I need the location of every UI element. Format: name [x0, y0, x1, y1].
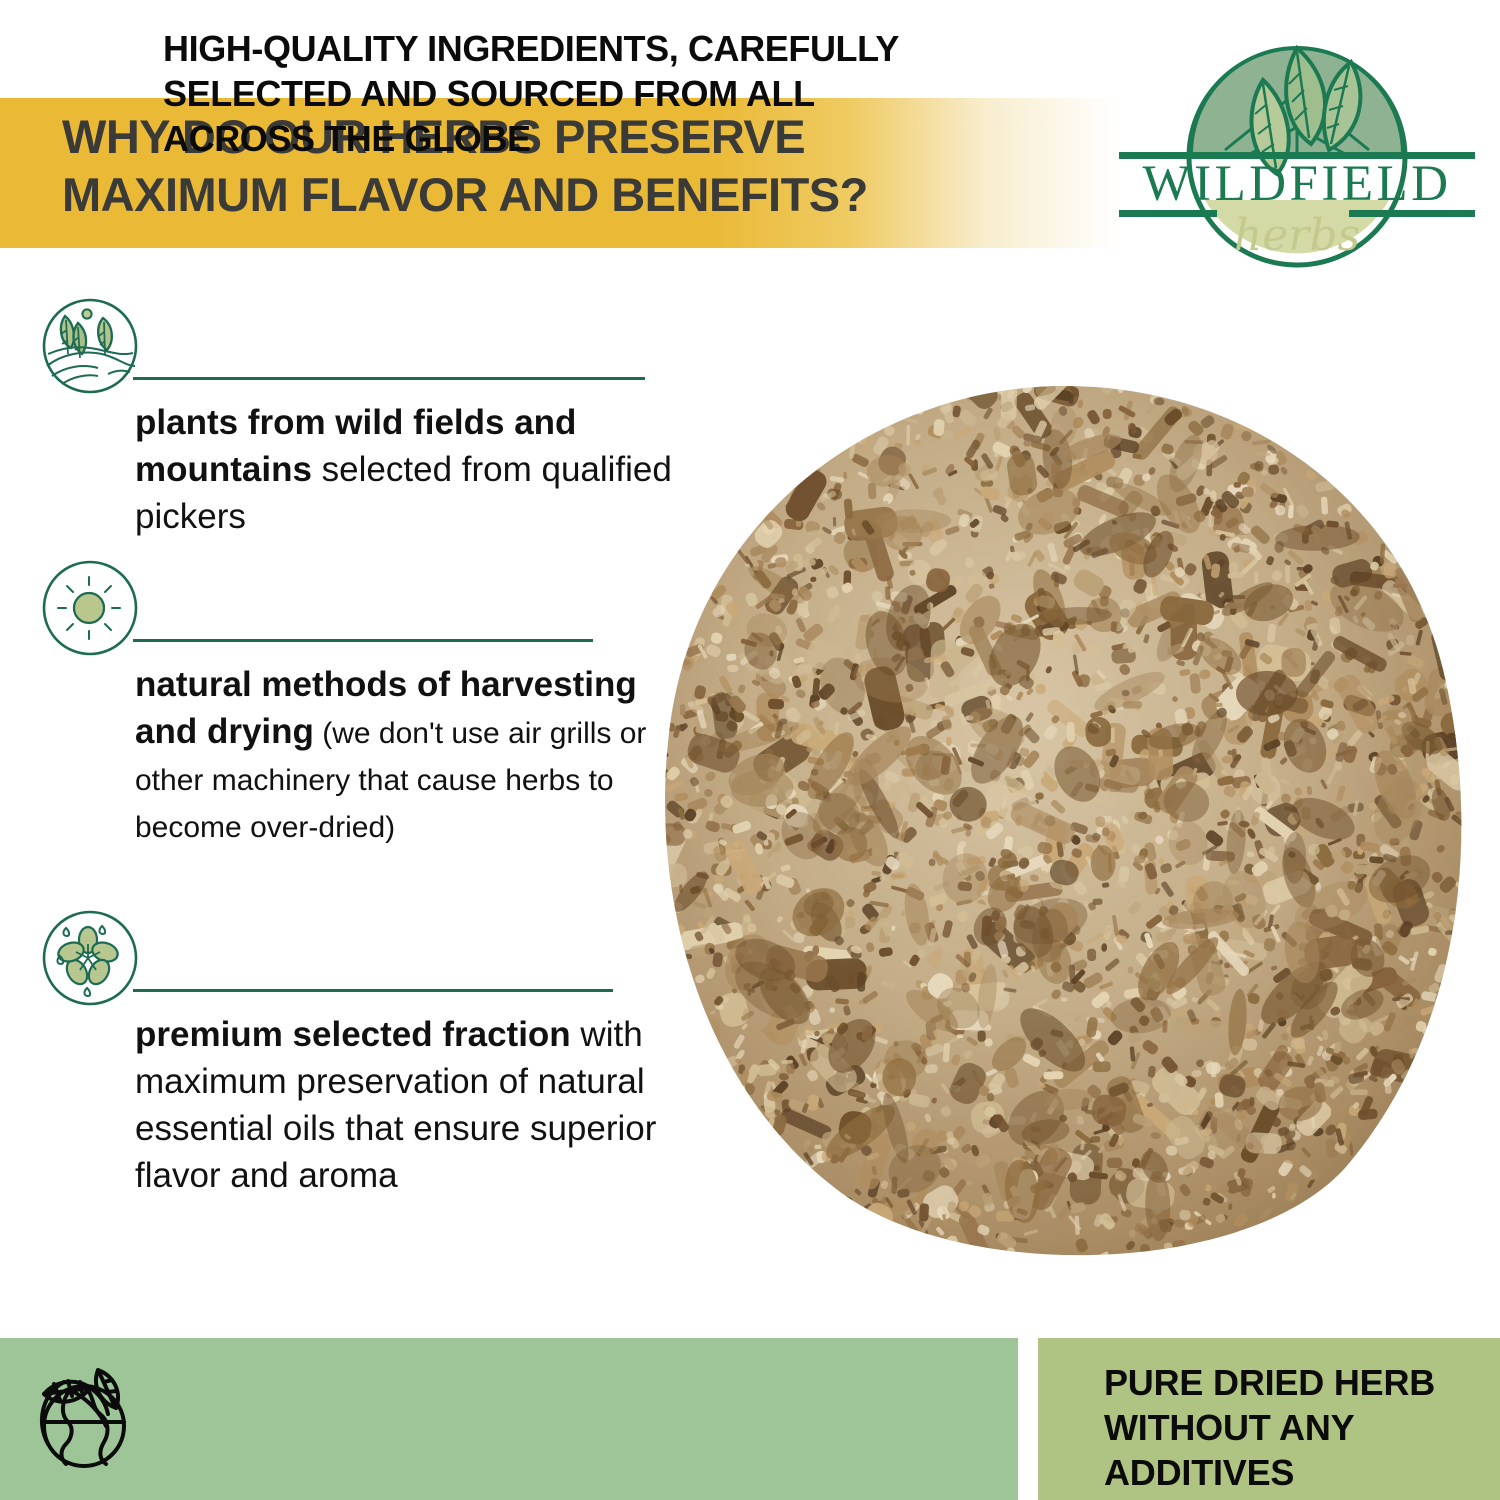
feature-divider-rule — [133, 377, 645, 380]
brand-logo: WILDFIELD herbs — [1105, 32, 1490, 282]
bottom-bar-left-text: HIGH-QUALITY INGREDIENTS, CAREFULLY SELE… — [163, 26, 993, 161]
sun-icon — [40, 558, 140, 658]
logo-script-word: herbs — [1234, 210, 1360, 261]
bottom-bar-quality — [0, 1338, 1018, 1500]
feature-text: premium selected fraction with maximum p… — [135, 1011, 680, 1199]
dried-herb-pile-photo — [645, 378, 1485, 1283]
bottom-bar-right-text: PURE DRIED HERB WITHOUT ANY ADDITIVES — [1104, 1360, 1484, 1495]
feature-text: natural methods of harvesting and drying… — [135, 661, 680, 849]
field-with-plants-icon — [40, 296, 140, 396]
feature-lead-text: premium selected fraction — [135, 1015, 571, 1054]
globe-with-leaf-icon — [26, 1360, 144, 1480]
logo-wordmark: WILDFIELD — [1142, 156, 1451, 212]
feature-divider-rule — [133, 989, 613, 992]
feature-text: plants from wild fields and mountains se… — [135, 399, 680, 540]
infographic-page: WHY DO OUR HERBS PRESERVE MAXIMUM FLAVOR… — [0, 0, 1500, 1500]
flower-with-droplets-icon — [40, 908, 140, 1008]
feature-divider-rule — [133, 639, 593, 642]
